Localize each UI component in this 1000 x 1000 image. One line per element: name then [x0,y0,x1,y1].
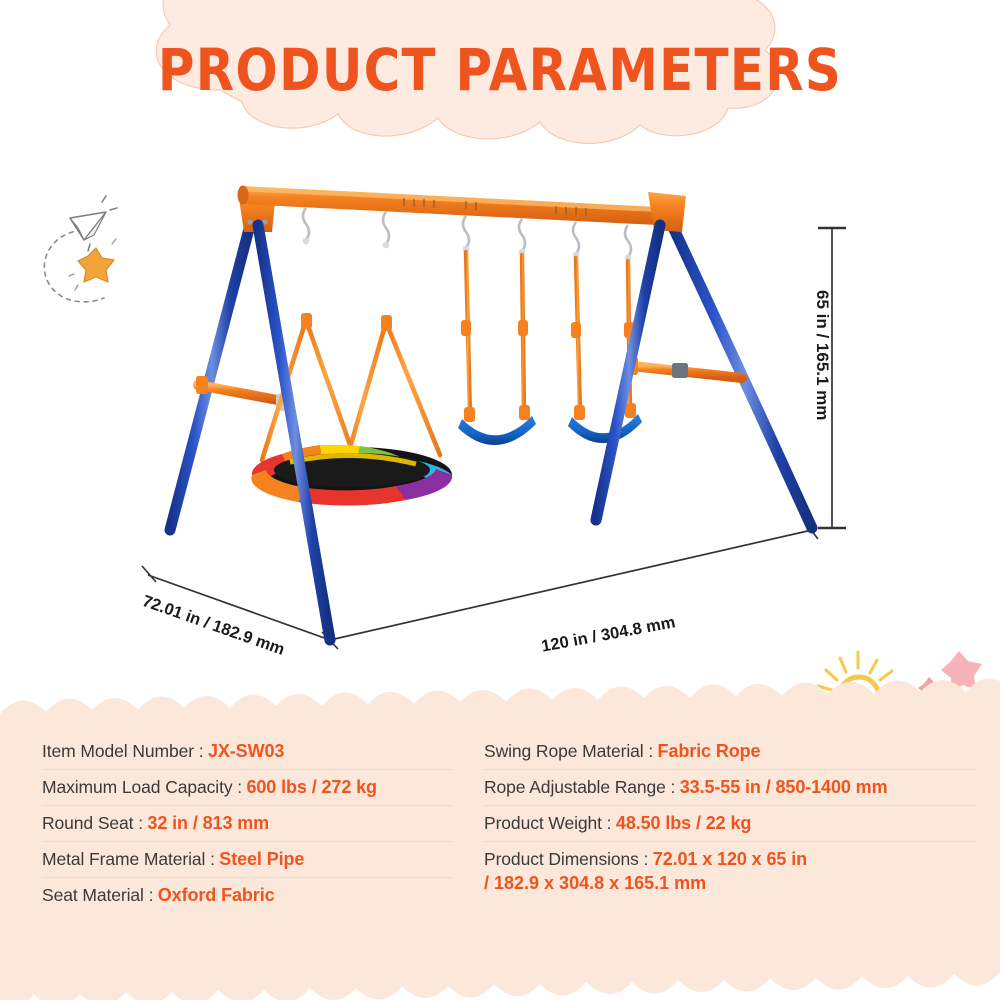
specifications-panel: Item Model Number : JX-SW03 Maximum Load… [0,678,1000,1000]
spec-value: Steel Pipe [219,849,304,869]
right-crossbar [626,357,742,378]
height-dimension-label: 65 in / 165.1 mm [812,290,832,420]
spec-value: 33.5-55 in / 850-1400 mm [680,777,888,797]
spec-value: 600 lbs / 272 kg [246,777,376,797]
spec-label: Product Dimensions : [484,849,648,869]
spec-row: Item Model Number : JX-SW03 [42,734,452,770]
spec-value: 72.01 x 120 x 65 in [653,849,807,869]
spec-row: Rope Adjustable Range : 33.5-55 in / 850… [484,770,976,806]
spec-row: Round Seat : 32 in / 813 mm [42,806,452,842]
spec-value: Oxford Fabric [158,885,275,905]
spec-value: 32 in / 813 mm [147,813,269,833]
spec-column-left: Item Model Number : JX-SW03 Maximum Load… [0,734,470,1000]
spec-label: Rope Adjustable Range : [484,777,675,797]
product-parameters-page: PRODUCT PARAMETERS [0,0,1000,1000]
spec-label: Seat Material : [42,885,153,905]
spec-label: Swing Rope Material : [484,741,653,761]
spec-label: Product Weight : [484,813,611,833]
spec-value-second-line: / 182.9 x 304.8 x 165.1 mm [484,873,976,894]
spec-label: Item Model Number : [42,741,204,761]
saucer-seat [251,445,452,506]
spec-label: Round Seat : [42,813,143,833]
spec-row: Product Weight : 48.50 lbs / 22 kg [484,806,976,842]
spec-value: Fabric Rope [658,741,761,761]
spec-label: Maximum Load Capacity : [42,777,242,797]
spec-value: JX-SW03 [208,741,284,761]
spec-label: Metal Frame Material : [42,849,215,869]
spec-value: 48.50 lbs / 22 kg [616,813,751,833]
spec-row: Seat Material : Oxford Fabric [42,878,452,913]
width-dimension-line [330,521,818,640]
belt-swing-1 [458,252,536,445]
spec-column-right: Swing Rope Material : Fabric Rope Rope A… [470,734,1000,1000]
spec-row: Metal Frame Material : Steel Pipe [42,842,452,878]
spec-row: Swing Rope Material : Fabric Rope [484,734,976,770]
spec-row: Maximum Load Capacity : 600 lbs / 272 kg [42,770,452,806]
page-title: PRODUCT PARAMETERS [70,36,930,104]
spec-row: Product Dimensions : 72.01 x 120 x 65 in… [484,842,976,900]
